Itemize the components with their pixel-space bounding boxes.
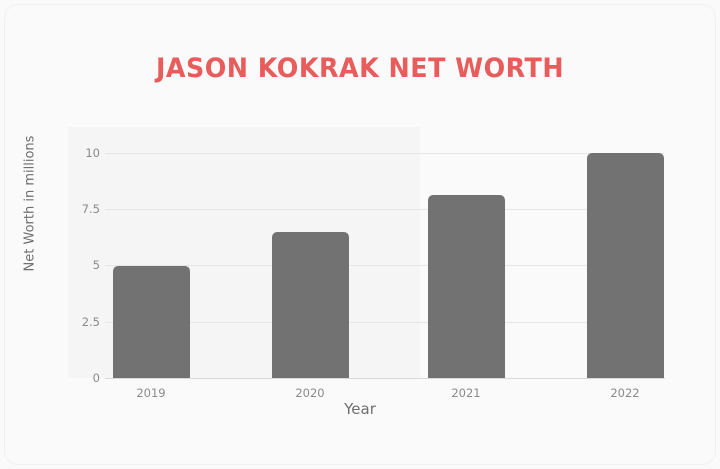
- y-axis-label: Net Worth in millions: [23, 104, 38, 304]
- bar-2022[interactable]: [587, 153, 664, 378]
- y-tick-0: 0: [93, 371, 100, 385]
- gridline-10: [105, 153, 664, 154]
- y-tick-5: 5: [93, 258, 100, 272]
- x-tick-2019: 2019: [101, 386, 201, 400]
- y-tick-2_5: 2.5: [82, 315, 100, 329]
- chart-canvas: JASON KOKRAK NET WORTH Net Worth in mill…: [0, 0, 720, 469]
- y-tick-10: 10: [85, 146, 100, 160]
- x-tick-2021: 2021: [416, 386, 516, 400]
- bar-2019[interactable]: [113, 266, 190, 379]
- y-tick-7_5: 7.5: [82, 202, 100, 216]
- gridline-5: [105, 265, 664, 266]
- x-axis-line: [105, 378, 665, 379]
- x-tick-2020: 2020: [260, 386, 360, 400]
- gridline-7_5: [105, 209, 664, 210]
- plot-area: [113, 153, 664, 378]
- x-axis-label: Year: [0, 400, 720, 418]
- y-axis-tick-labels: 0 2.5 5 7.5 10: [62, 153, 106, 378]
- chart-title: JASON KOKRAK NET WORTH: [22, 53, 699, 84]
- x-tick-2022: 2022: [575, 386, 675, 400]
- bar-2021[interactable]: [428, 195, 505, 378]
- bar-2020[interactable]: [272, 232, 349, 378]
